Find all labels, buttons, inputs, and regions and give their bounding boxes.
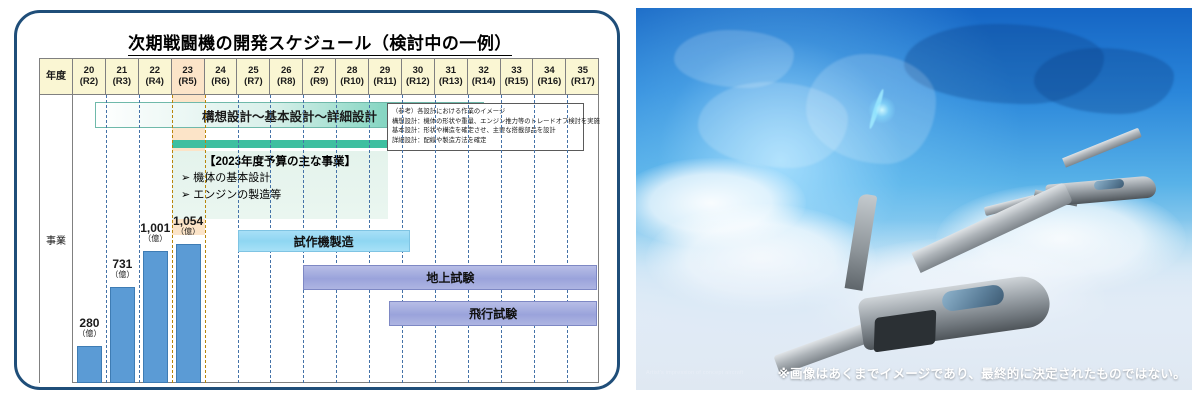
header-year-reiwa: (R7) <box>244 77 262 88</box>
header-year-number: 29 <box>380 66 391 77</box>
image-disclaimer-caption: ※画像はあくまでイメージであり、最終的に決定されたものではない。 <box>778 363 1186 382</box>
gridline-year-31 <box>435 95 436 383</box>
task-bar-1: 試作機製造 <box>238 230 410 252</box>
schedule-table: 年度 20(R2)21(R3)22(R4)23(R5)24(R6)25(R7)2… <box>39 58 599 383</box>
task-bar-label: 飛行試験 <box>469 305 517 322</box>
header-year-reiwa: (R5) <box>178 77 196 88</box>
header-year-label: 年度 <box>40 59 73 94</box>
header-year-reiwa: (R3) <box>113 77 131 88</box>
header-year-23: 23(R5) <box>172 59 205 94</box>
page-title: 次期戦闘機の開発スケジュール（検討中の一例） <box>17 29 623 54</box>
task-bar-label: 試作機製造 <box>294 233 354 250</box>
jet-tail-fin <box>845 193 878 291</box>
map-japan-glow-icon <box>868 96 896 124</box>
header-year-reiwa: (R6) <box>211 77 229 88</box>
row-label-business-text: 事業 <box>46 232 66 247</box>
image-credit-caption: Artist's impression of concept aircraft <box>646 370 744 376</box>
header-year-number: 32 <box>478 66 489 77</box>
budget-box-title: 【2023年度予算の主な事業】 <box>178 155 382 170</box>
budget-bar-22 <box>143 251 168 383</box>
header-year-reiwa: (R8) <box>277 77 295 88</box>
header-year-number: 26 <box>281 66 292 77</box>
header-year-number: 34 <box>544 66 555 77</box>
header-year-32: 32(R14) <box>468 59 501 94</box>
reference-line: 基本設計：形状や構造を確定させ、主要な搭載部品を設計 <box>392 126 579 136</box>
header-year-reiwa: (R15) <box>505 77 529 88</box>
header-year-number: 28 <box>347 66 358 77</box>
table-body: 事業 構想設計～基本設計～詳細設計 【2023年度予算の主な事業】 ➢ 機体の基… <box>40 95 598 383</box>
budget-bar-unit: （億） <box>68 330 111 338</box>
header-year-25: 25(R7) <box>237 59 270 94</box>
gridline-year-35 <box>567 95 568 383</box>
header-year-number: 25 <box>248 66 259 77</box>
row-label-business: 事業 <box>40 95 73 383</box>
header-year-31: 31(R13) <box>435 59 468 94</box>
header-year-label-text: 年度 <box>46 71 66 83</box>
budget-bar-21 <box>110 287 135 383</box>
header-year-reiwa: (R10) <box>340 77 364 88</box>
budget-bar-amount: 1,054 <box>173 214 203 228</box>
header-year-reiwa: (R4) <box>145 77 163 88</box>
header-year-number: 24 <box>215 66 226 77</box>
concept-aircraft-image: Artist's impression of concept aircraft … <box>636 8 1192 390</box>
header-year-27: 27(R9) <box>303 59 336 94</box>
budget-bar-value-21: 731（億） <box>101 258 144 279</box>
gridline-year-21 <box>106 95 107 383</box>
budget-bar-23 <box>176 244 201 383</box>
header-year-35: 35(R17) <box>566 59 599 94</box>
header-year-21: 21(R3) <box>106 59 139 94</box>
reference-line: 詳細設計：配線や製造方法を確定 <box>392 136 579 146</box>
budget-bar-amount: 731 <box>112 257 132 271</box>
task-bar-3: 飛行試験 <box>389 301 598 326</box>
header-year-number: 27 <box>314 66 325 77</box>
header-year-30: 30(R12) <box>402 59 435 94</box>
gantt-plot-area: 構想設計～基本設計～詳細設計 【2023年度予算の主な事業】 ➢ 機体の基本設計… <box>73 95 598 383</box>
page-title-text: 次期戦闘機の開発スケジュール（検討中の一例） <box>128 34 512 56</box>
header-year-number: 23 <box>182 66 193 77</box>
header-year-20: 20(R2) <box>73 59 106 94</box>
header-year-reiwa: (R12) <box>406 77 430 88</box>
budget-item: ➢ エンジンの製造等 <box>178 187 382 204</box>
header-year-number: 33 <box>511 66 522 77</box>
header-year-reiwa: (R9) <box>310 77 328 88</box>
header-year-28: 28(R10) <box>336 59 369 94</box>
task-bar-2: 地上試験 <box>303 265 597 290</box>
header-year-24: 24(R6) <box>205 59 238 94</box>
reference-line: 構想設計：機体の形状や重量、エンジン推力等のトレードオフ検討を実施 <box>392 117 579 127</box>
header-year-26: 26(R8) <box>270 59 303 94</box>
reference-line: （参考）各設計における作業のイメージ <box>392 107 579 117</box>
jet-aircraft-front <box>756 186 1086 390</box>
budget-bar-20 <box>77 346 102 383</box>
budget-bar-unit: （億） <box>101 271 144 279</box>
gridline-year-33 <box>501 95 502 383</box>
header-year-reiwa: (R16) <box>538 77 562 88</box>
header-year-reiwa: (R17) <box>571 77 595 88</box>
header-year-number: 21 <box>117 66 128 77</box>
header-year-reiwa: (R2) <box>80 77 98 88</box>
budget-bar-unit: （億） <box>167 228 210 236</box>
header-year-number: 35 <box>578 66 589 77</box>
header-year-33: 33(R15) <box>501 59 534 94</box>
header-year-number: 30 <box>413 66 424 77</box>
budget-bar-amount: 280 <box>79 316 99 330</box>
gridline-year-34 <box>534 95 535 383</box>
header-year-number: 31 <box>445 66 456 77</box>
header-year-reiwa: (R14) <box>472 77 496 88</box>
gridline-year-32 <box>468 95 469 383</box>
jet-wing-right <box>911 182 1073 273</box>
header-year-22: 22(R4) <box>139 59 172 94</box>
header-year-reiwa: (R11) <box>373 77 396 88</box>
header-year-34: 34(R16) <box>533 59 566 94</box>
header-year-number: 22 <box>149 66 160 77</box>
gridline-year-24 <box>205 95 206 383</box>
design-phase-label: 構想設計～基本設計～詳細設計 <box>202 106 377 125</box>
task-bar-label: 地上試験 <box>426 269 474 286</box>
jet-engine-intake <box>874 309 937 352</box>
header-year-29: 29(R11) <box>369 59 402 94</box>
table-header-row: 年度 20(R2)21(R3)22(R4)23(R5)24(R6)25(R7)2… <box>40 59 598 95</box>
header-year-reiwa: (R13) <box>439 77 463 88</box>
budget-item: ➢ 機体の基本設計 <box>178 170 382 187</box>
budget-bar-value-23: 1,054（億） <box>167 215 210 236</box>
budget-bar-value-20: 280（億） <box>68 317 111 338</box>
header-year-number: 20 <box>84 66 95 77</box>
schedule-panel: 次期戦闘機の開発スケジュール（検討中の一例） 年度 20(R2)21(R3)22… <box>14 10 620 390</box>
reference-note-box: （参考）各設計における作業のイメージ 構想設計：機体の形状や重量、エンジン推力等… <box>387 103 584 151</box>
